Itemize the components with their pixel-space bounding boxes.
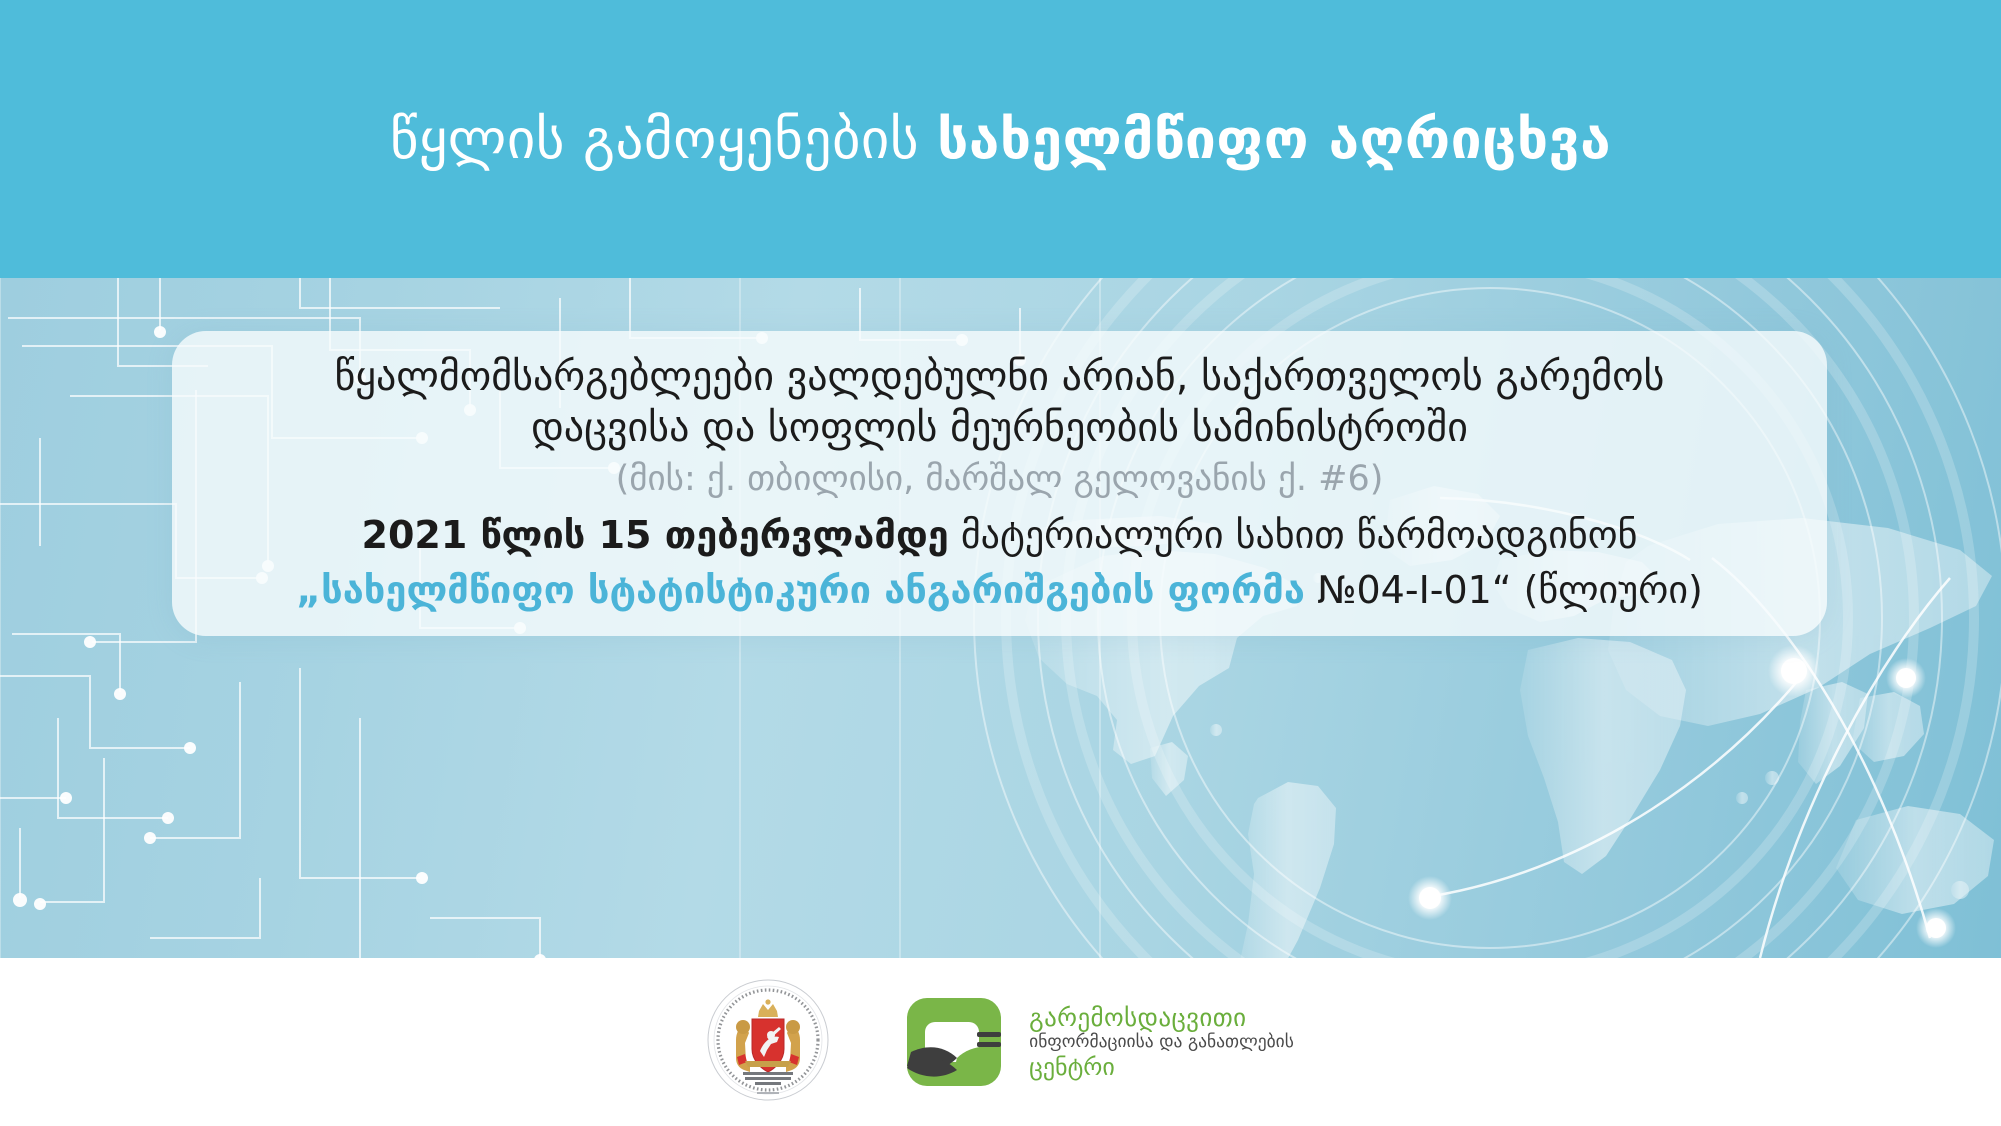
card-deadline-line: 2021 წლის 15 თებერვლამდე მატერიალური სახ… — [362, 511, 1638, 560]
footer-logos: გარემოსდაცვითი ინფორმაციისა და განათლები… — [0, 958, 2001, 1126]
eiec-text-line-2: ინფორმაციისა და განათლების — [1029, 1032, 1294, 1053]
announcement-card: წყალმომსარგებლეები ვალდებულნი არიან, საქ… — [172, 331, 1827, 636]
page-title-bold: სახელმწიფო აღრიცხვა — [937, 107, 1611, 171]
scene-inner: წყალმომსარგებლეები ვალდებულნი არიან, საქ… — [0, 278, 2001, 958]
scene-background: წყალმომსარგებლეები ვალდებულნი არიან, საქ… — [0, 278, 2001, 958]
eiec-text-line-1: გარემოსდაცვითი — [1029, 1003, 1294, 1033]
eiec-book-leaf-icon — [907, 992, 1015, 1092]
card-form-number: №04-I-01“ (წლიური) — [1305, 568, 1703, 612]
page-title-light: წყლის გამოყენების — [390, 107, 937, 171]
ministry-logo — [707, 979, 829, 1105]
card-deadline-date: 2021 წლის 15 თებერვლამდე — [362, 513, 949, 557]
card-line-2: დაცვისა და სოფლის მეურნეობის სამინისტროშ… — [531, 403, 1468, 454]
card-line-1: წყალმომსარგებლეები ვალდებულნი არიან, საქ… — [335, 352, 1665, 403]
eiec-logo: გარემოსდაცვითი ინფორმაციისა და განათლები… — [907, 992, 1294, 1092]
eiec-logo-text: გარემოსდაცვითი ინფორმაციისა და განათლები… — [1029, 1003, 1294, 1081]
eiec-text-line-3: ცენტრი — [1029, 1053, 1294, 1081]
page-title: წყლის გამოყენების სახელმწიფო აღრიცხვა — [390, 109, 1611, 170]
card-address: (მის: ქ. თბილისი, მარშალ გელოვანის ქ. #6… — [616, 457, 1384, 502]
card-form-name: „სახელმწიფო სტატისტიკური ანგარიშგების ფო… — [296, 568, 1305, 612]
card-form-line: „სახელმწიფო სტატისტიკური ანგარიშგების ფო… — [296, 566, 1703, 615]
ministry-emblem-icon — [707, 979, 829, 1101]
poster-root: წყლის გამოყენების სახელმწიფო აღრიცხვა — [0, 0, 2001, 1126]
header-band: წყლის გამოყენების სახელმწიფო აღრიცხვა — [0, 0, 2001, 278]
card-deadline-rest: მატერიალური სახით წარმოადგინონ — [949, 513, 1638, 557]
